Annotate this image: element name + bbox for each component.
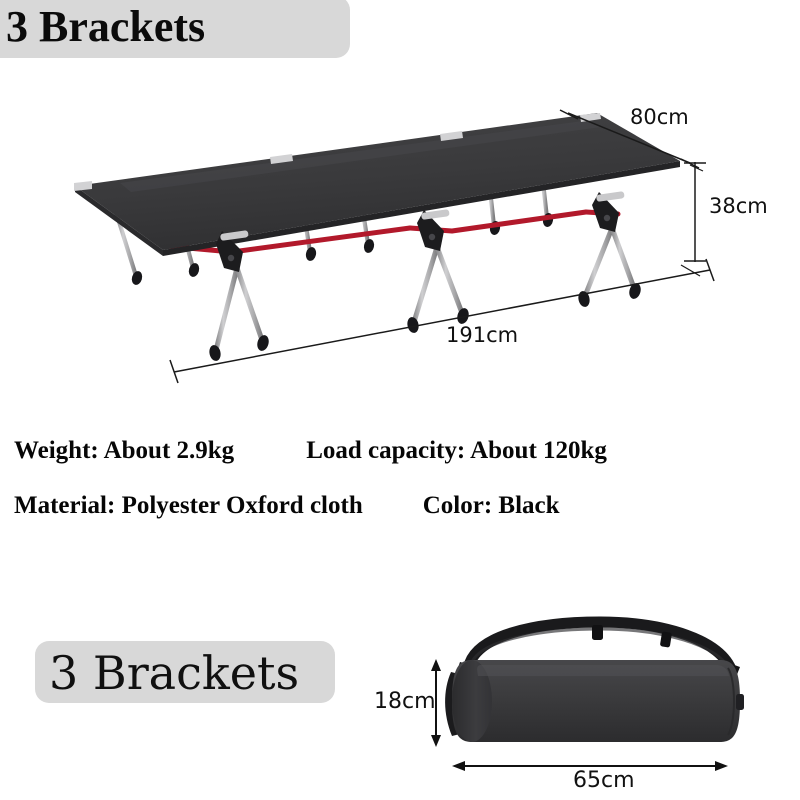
title-badge-top: 3 Brackets <box>0 0 350 58</box>
cot-far-legs <box>116 156 547 276</box>
dimension-label-bag-length: 65cm <box>573 770 635 792</box>
spec-row-weight-load: Weight: About 2.9kgLoad capacity: About … <box>14 437 784 465</box>
dimension-guide-line <box>681 165 703 276</box>
carry-bag-strap <box>445 622 740 736</box>
cot-bracket-1 <box>208 230 271 362</box>
cot-bracket-2 <box>406 209 471 334</box>
dimension-line-length-191cm <box>170 259 714 383</box>
cot-fabric-surface <box>75 113 680 256</box>
product-spec-sheet: 3 Brackets Weight: About 2.9kgLoad capac… <box>0 0 800 800</box>
strap-adjuster-right <box>660 631 672 647</box>
dimension-line-height-38cm <box>684 162 706 262</box>
cot-corner-tabs <box>74 113 601 191</box>
strap-adjuster-left <box>592 625 603 640</box>
spec-row-material-color: Material: Polyester Oxford clothColor: B… <box>14 492 784 520</box>
dimension-label-cot-width: 80cm <box>630 107 689 128</box>
bag-end-tab <box>736 694 744 710</box>
spec-weight: Weight: About 2.9kg <box>14 437 234 465</box>
dimension-label-bag-height: 18cm <box>374 691 436 713</box>
spec-material: Material: Polyester Oxford cloth <box>14 492 363 520</box>
dimension-label-cot-height: 38cm <box>709 196 768 217</box>
cot-accent-rail <box>166 212 618 252</box>
title-badge-top-label: 3 Brackets <box>6 5 205 49</box>
cot-bracket-3 <box>577 191 643 308</box>
cot-far-leg-feet <box>130 212 554 286</box>
carry-bag-dimension-lines <box>431 659 728 771</box>
cot-dimension-lines <box>170 110 714 383</box>
carry-bag-body <box>452 660 744 742</box>
title-badge-bottom-label: 3 Brackets <box>49 650 299 696</box>
dimension-label-cot-length: 191cm <box>446 325 518 346</box>
spec-load-capacity: Load capacity: About 120kg <box>306 437 607 465</box>
title-badge-bottom: 3 Brackets <box>35 641 335 703</box>
spec-color: Color: Black <box>423 492 560 520</box>
